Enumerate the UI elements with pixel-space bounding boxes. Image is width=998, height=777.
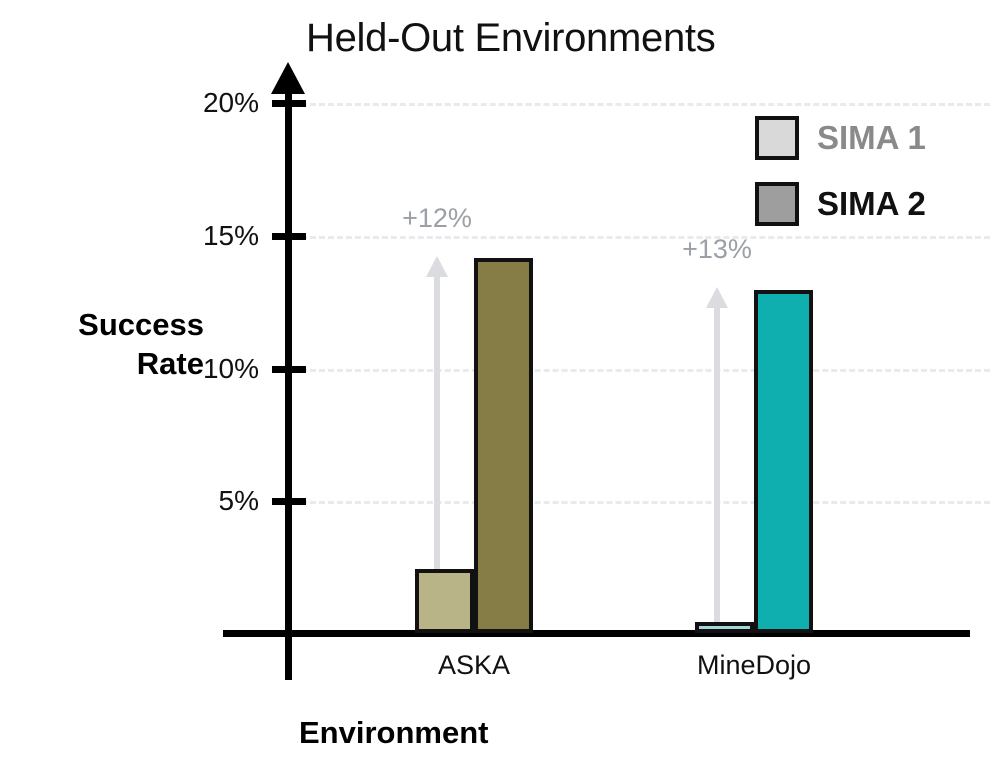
category-label-aska: ASKA <box>354 650 594 681</box>
x-axis-title: Environment <box>299 715 998 751</box>
bar-minedojo-sima2 <box>754 290 813 633</box>
x-axis-line <box>223 630 970 637</box>
bar-minedojo-sima1 <box>695 622 754 633</box>
legend-swatch-sima1 <box>755 116 799 160</box>
y-tick-label-5: 5% <box>139 487 259 515</box>
bar-aska-sima1 <box>415 569 474 633</box>
gridline-10 <box>292 369 990 372</box>
y-tick-label-15: 15% <box>139 222 259 250</box>
legend-label-sima1: SIMA 1 <box>817 119 926 157</box>
legend: SIMA 1 SIMA 2 <box>755 112 926 244</box>
y-axis-line <box>285 88 292 680</box>
legend-label-sima2: SIMA 2 <box>817 185 926 223</box>
bar-aska-sima2 <box>474 258 533 633</box>
legend-swatch-sima2 <box>755 182 799 226</box>
chart-container: Held-Out Environments 20% 15% 10% 5% +12… <box>0 0 998 777</box>
gridline-20 <box>292 103 990 106</box>
delta-label-aska: +12% <box>337 203 537 234</box>
legend-item-sima2[interactable]: SIMA 2 <box>755 178 926 230</box>
y-tick-label-20: 20% <box>139 89 259 117</box>
y-axis-title: Success Rate <box>14 306 204 384</box>
y-axis-arrow-icon <box>271 62 305 94</box>
category-label-minedojo: MineDojo <box>634 650 874 681</box>
delta-arrow-shaft-minedojo <box>714 306 720 622</box>
legend-item-sima1[interactable]: SIMA 1 <box>755 112 926 164</box>
delta-arrow-shaft-aska <box>434 275 440 569</box>
delta-arrow-head-aska-icon <box>426 256 448 277</box>
gridline-5 <box>292 501 990 504</box>
delta-arrow-head-minedojo-icon <box>706 287 728 308</box>
y-axis-title-line1: Success <box>14 306 204 345</box>
y-axis-title-line2: Rate <box>14 345 204 384</box>
